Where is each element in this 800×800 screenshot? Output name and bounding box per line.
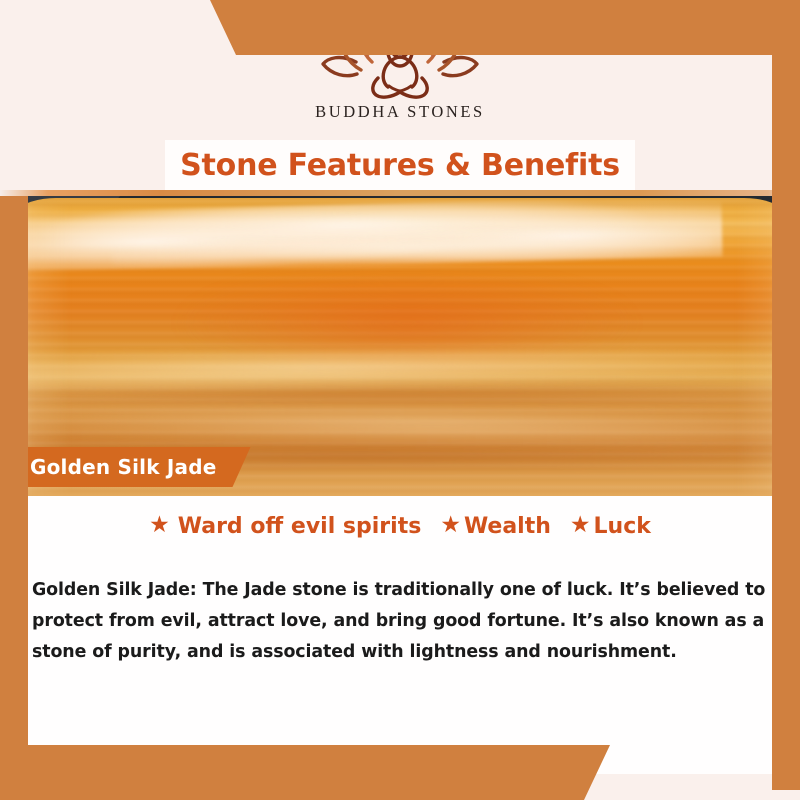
stone-name-tag-shape: Golden Silk Jade bbox=[0, 447, 251, 487]
page-title: Stone Features & Benefits bbox=[180, 148, 620, 183]
page-title-box: Stone Features & Benefits bbox=[165, 140, 635, 190]
benefit-label: Wealth bbox=[464, 514, 551, 539]
title-underline-rule bbox=[0, 190, 800, 196]
benefit-label: Luck bbox=[594, 514, 651, 539]
benefit-item: ★ Luck bbox=[570, 514, 651, 539]
poster-canvas: Golden Silk Jade bbox=[0, 0, 800, 800]
star-icon: ★ bbox=[149, 514, 170, 537]
lotus-meditation-icon bbox=[316, 18, 484, 100]
stone-name-tag: Golden Silk Jade bbox=[0, 447, 251, 487]
bottom-cream-strip bbox=[0, 774, 800, 800]
stone-right-edge-highlight bbox=[736, 204, 800, 494]
benefit-label: Ward off evil spirits bbox=[178, 514, 422, 539]
star-icon: ★ bbox=[440, 514, 461, 537]
brand-logo: BUDDHA STONES bbox=[0, 18, 800, 136]
brand-wordmark: BUDDHA STONES bbox=[315, 102, 485, 122]
stone-description: Golden Silk Jade: The Jade stone is trad… bbox=[32, 575, 772, 668]
benefits-list: ★ Ward off evil spirits ★ Wealth ★ Luck bbox=[0, 514, 800, 539]
stone-name-label: Golden Silk Jade bbox=[30, 455, 217, 479]
benefit-item: ★ Ward off evil spirits bbox=[149, 514, 421, 539]
content-area: ★ Ward off evil spirits ★ Wealth ★ Luck … bbox=[0, 496, 800, 800]
star-icon: ★ bbox=[570, 514, 591, 537]
benefit-item: ★ Wealth bbox=[440, 514, 551, 539]
